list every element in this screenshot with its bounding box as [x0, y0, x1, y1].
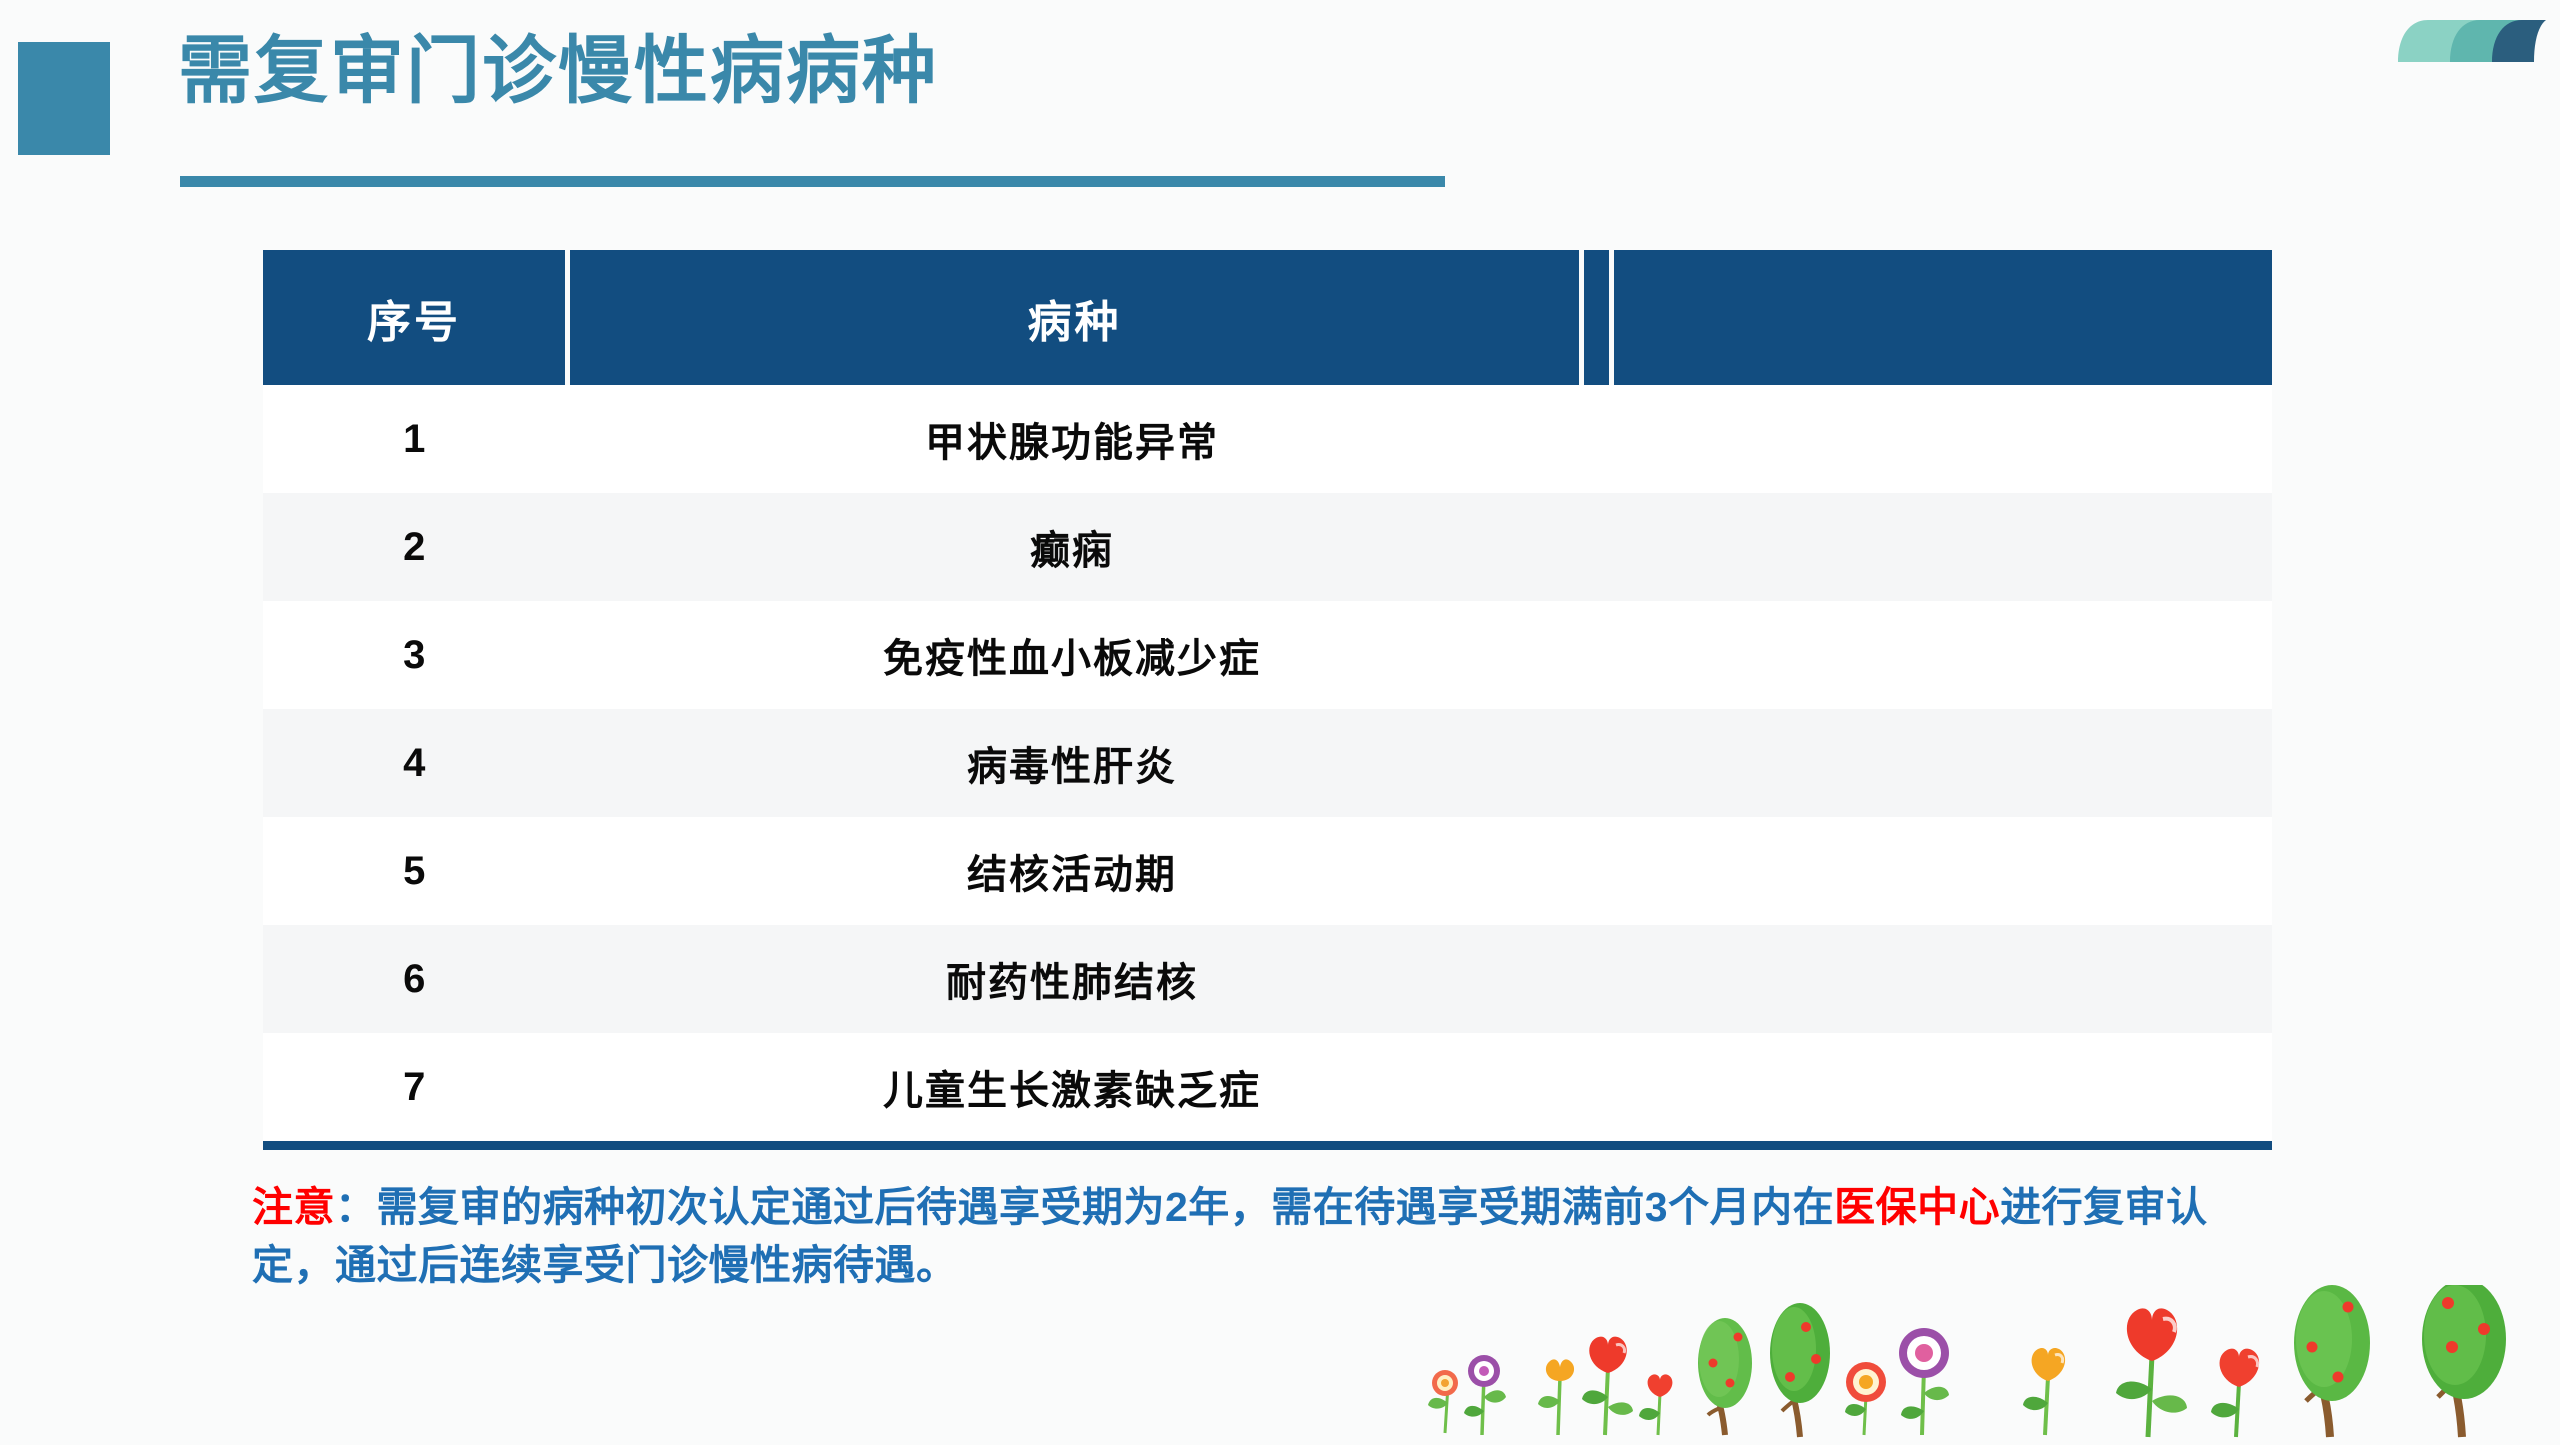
table-body: 1甲状腺功能异常2癫痫3免疫性血小板减少症4病毒性肝炎5结核活动期6耐药性肺结核… [263, 385, 2272, 1146]
cell-disease-name-text: 癫痫 [568, 518, 1577, 576]
column-header-no: 序号 [263, 250, 568, 385]
cell-index: 1 [263, 385, 568, 493]
table-row: 6耐药性肺结核 [263, 925, 2272, 1033]
cell-disease-name-text: 病毒性肝炎 [568, 734, 1577, 792]
note-colon: ： [335, 1184, 377, 1230]
title-block: 需复审门诊慢性病病种 [0, 0, 1500, 200]
cell-disease-name: 甲状腺功能异常 [568, 385, 2273, 493]
column-header-name: 病种 [568, 250, 1582, 385]
corner-ribbon-decoration [2388, 0, 2560, 62]
cell-disease-name-text: 儿童生长激素缺乏症 [568, 1058, 1577, 1116]
cell-disease-name: 免疫性血小板减少症 [568, 601, 2273, 709]
disease-table: 序号 病种 1甲状腺功能异常2癫痫3免疫性血小板减少症4病毒性肝炎5结核活动期6… [263, 250, 2272, 1150]
ribbon-swoosh-icon [2388, 0, 2560, 62]
note-label: 注意 [252, 1184, 335, 1230]
note-text-part1: 需复审的病种初次认定通过后待遇享受期为2年，需在待遇享受期满前3个月内在 [377, 1184, 1835, 1230]
column-header-spacer-b [1612, 250, 2273, 385]
cell-disease-name-text: 结核活动期 [568, 842, 1577, 900]
cell-index: 6 [263, 925, 568, 1033]
column-header-spacer-a [1582, 250, 1612, 385]
cell-disease-name-text: 甲状腺功能异常 [568, 410, 1577, 468]
cell-disease-name: 癫痫 [568, 493, 2273, 601]
title-accent-block [18, 42, 110, 155]
cell-index: 3 [263, 601, 568, 709]
table-header: 序号 病种 [263, 250, 2272, 385]
table-row: 4病毒性肝炎 [263, 709, 2272, 817]
title-underline [180, 176, 1445, 187]
cell-index: 7 [263, 1033, 568, 1146]
cell-disease-name: 儿童生长激素缺乏症 [568, 1033, 2273, 1146]
flower-strip-decoration [1400, 1285, 2560, 1440]
table-row: 3免疫性血小板减少症 [263, 601, 2272, 709]
table-row: 5结核活动期 [263, 817, 2272, 925]
note-block: 注意：需复审的病种初次认定通过后待遇享受期为2年，需在待遇享受期满前3个月内在医… [252, 1178, 2282, 1294]
cell-disease-name: 耐药性肺结核 [568, 925, 2273, 1033]
table-header-row: 序号 病种 [263, 250, 2272, 385]
table-row: 2癫痫 [263, 493, 2272, 601]
note-highlight: 医保中心 [1834, 1184, 2000, 1230]
cell-disease-name: 结核活动期 [568, 817, 2273, 925]
cell-index: 5 [263, 817, 568, 925]
cell-disease-name-text: 免疫性血小板减少症 [568, 626, 1577, 684]
page-title: 需复审门诊慢性病病种 [178, 30, 938, 111]
cell-index: 2 [263, 493, 568, 601]
table-row: 1甲状腺功能异常 [263, 385, 2272, 493]
watercolor-flowers-icon [1400, 1285, 2560, 1440]
cell-disease-name: 病毒性肝炎 [568, 709, 2273, 817]
table-row: 7儿童生长激素缺乏症 [263, 1033, 2272, 1146]
cell-disease-name-text: 耐药性肺结核 [568, 950, 1577, 1008]
cell-index: 4 [263, 709, 568, 817]
